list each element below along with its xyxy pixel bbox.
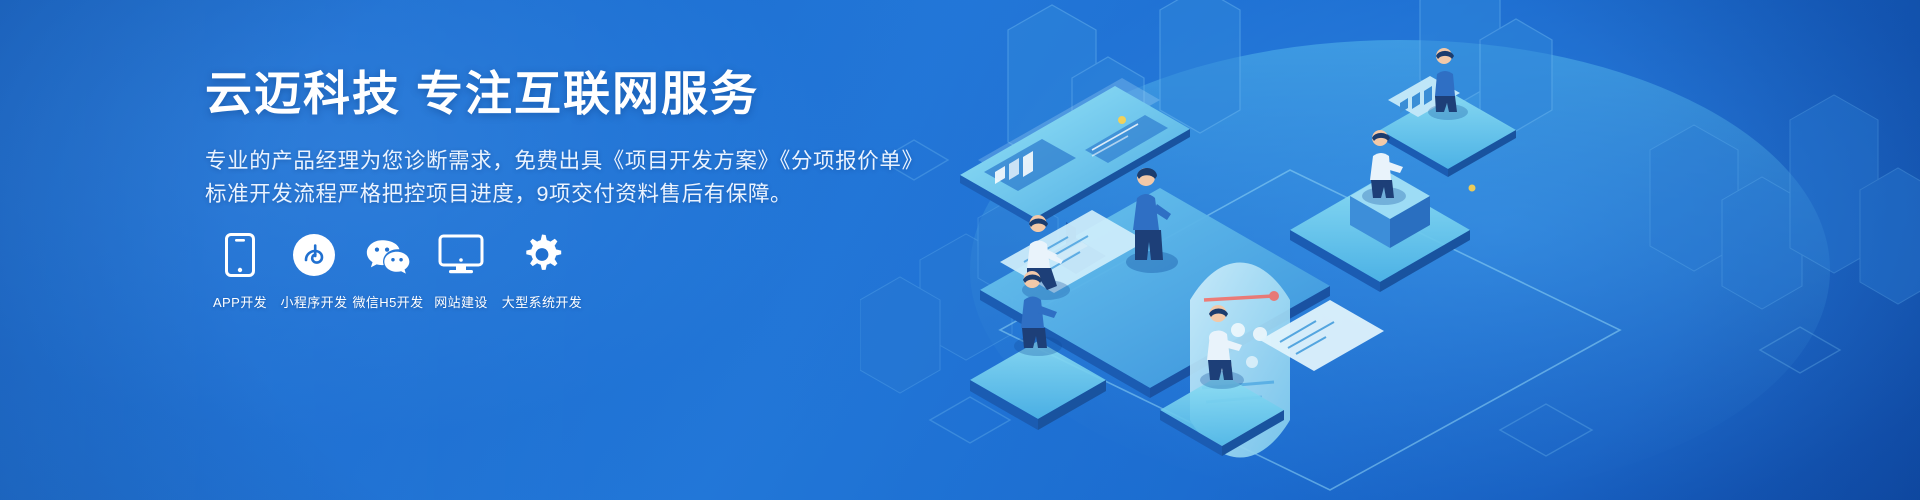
service-item-website[interactable]: 网站建设	[425, 232, 497, 311]
wechat-icon	[365, 232, 411, 278]
monitor-icon	[438, 232, 484, 278]
service-label-app: APP开发	[213, 292, 267, 311]
service-icon-row: APP开发 小程序开发	[203, 232, 587, 311]
subtitle-line-2: 标准开发流程严格把控项目进度，9项交付资料售后有保障。	[205, 178, 925, 211]
service-label-mini-program: 小程序开发	[280, 292, 347, 311]
mini-program-icon	[291, 232, 337, 278]
service-label-website: 网站建设	[434, 292, 488, 311]
service-item-app[interactable]: APP开发	[203, 232, 277, 311]
service-item-wechat-h5[interactable]: 微信H5开发	[351, 232, 425, 311]
service-item-large-system[interactable]: 大型系统开发	[497, 232, 587, 311]
subtitle-line-1: 专业的产品经理为您诊断需求，免费出具《项目开发方案》《分项报价单》	[205, 145, 925, 178]
page-title: 云迈科技 专注互联网服务	[205, 66, 925, 121]
service-label-wechat-h5: 微信H5开发	[352, 292, 423, 311]
hero-copy: 云迈科技 专注互联网服务 专业的产品经理为您诊断需求，免费出具《项目开发方案》《…	[205, 66, 925, 211]
subtitle-block: 专业的产品经理为您诊断需求，免费出具《项目开发方案》《分项报价单》 标准开发流程…	[205, 145, 925, 211]
service-item-mini-program[interactable]: 小程序开发	[277, 232, 351, 311]
service-label-large-system: 大型系统开发	[502, 292, 582, 311]
mobile-phone-icon	[217, 232, 263, 278]
hero-banner: 云迈科技 专注互联网服务 专业的产品经理为您诊断需求，免费出具《项目开发方案》《…	[0, 0, 1920, 500]
isometric-team-dashboard-illustration	[860, 0, 1920, 500]
gear-icon	[519, 232, 565, 278]
